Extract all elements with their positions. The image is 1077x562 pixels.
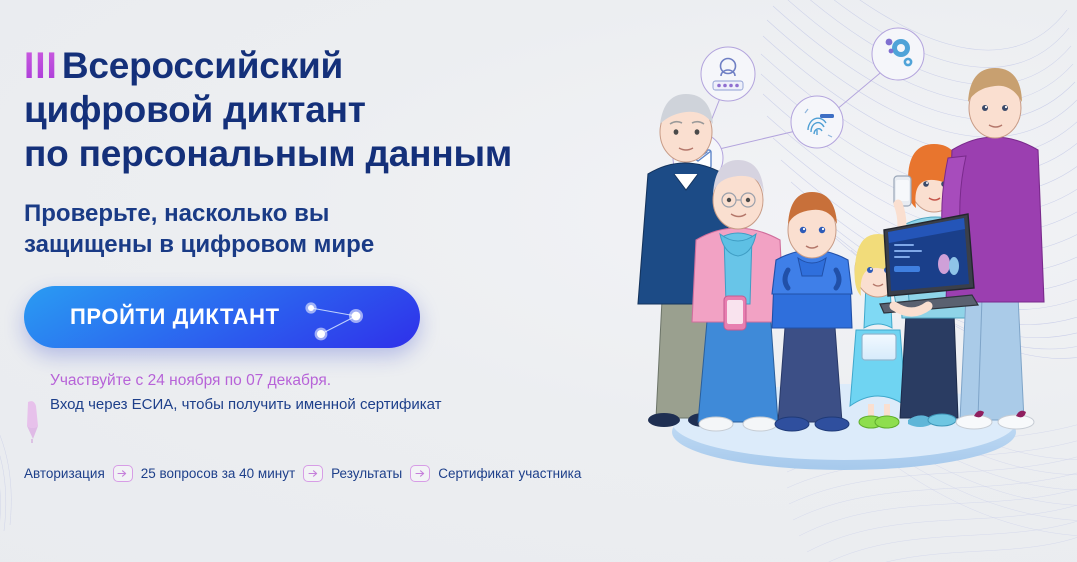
fingerprint-icon [791,96,843,148]
step-label-0: Авторизация [24,466,105,481]
arrow-right-icon [113,465,133,482]
arrow-right-icon [303,465,323,482]
pen-icon [18,398,44,444]
user-password-icon [701,47,755,101]
headline-text: Всероссийский цифровой диктант по персон… [24,45,512,174]
step-label-2: Результаты [331,466,402,481]
participation-dates: Участвуйте с 24 ноября по 07 декабря. Вх… [24,370,644,416]
family-digital-literacy-illustration [612,8,1062,478]
steps-breadcrumb: Авторизация 25 вопросов за 40 минут Резу… [24,465,581,482]
step-label-3: Сертификат участника [438,466,581,481]
hero-text-column: IIIВсероссийский цифровой диктант по пер… [24,44,644,416]
roman-numeral: III [24,44,58,88]
hero-banner: IIIВсероссийский цифровой диктант по пер… [0,0,1077,562]
arrow-right-icon [410,465,430,482]
page-subtitle: Проверьте, насколько вы защищены в цифро… [24,198,644,260]
dates-note: Вход через ЕСИА, чтобы получить именной … [24,394,644,416]
take-dictation-button[interactable]: ПРОЙТИ ДИКТАНТ [24,286,420,348]
step-label-1: 25 вопросов за 40 минут [141,466,295,481]
gears-settings-icon [872,28,924,80]
dates-period: Участвуйте с 24 ноября по 07 декабря. [24,370,644,391]
cta-label: ПРОЙТИ ДИКТАНТ [24,304,280,330]
person-boy-with-headphones [772,192,852,431]
page-title: IIIВсероссийский цифровой диктант по пер… [24,44,644,176]
network-nodes-icon [298,296,384,342]
